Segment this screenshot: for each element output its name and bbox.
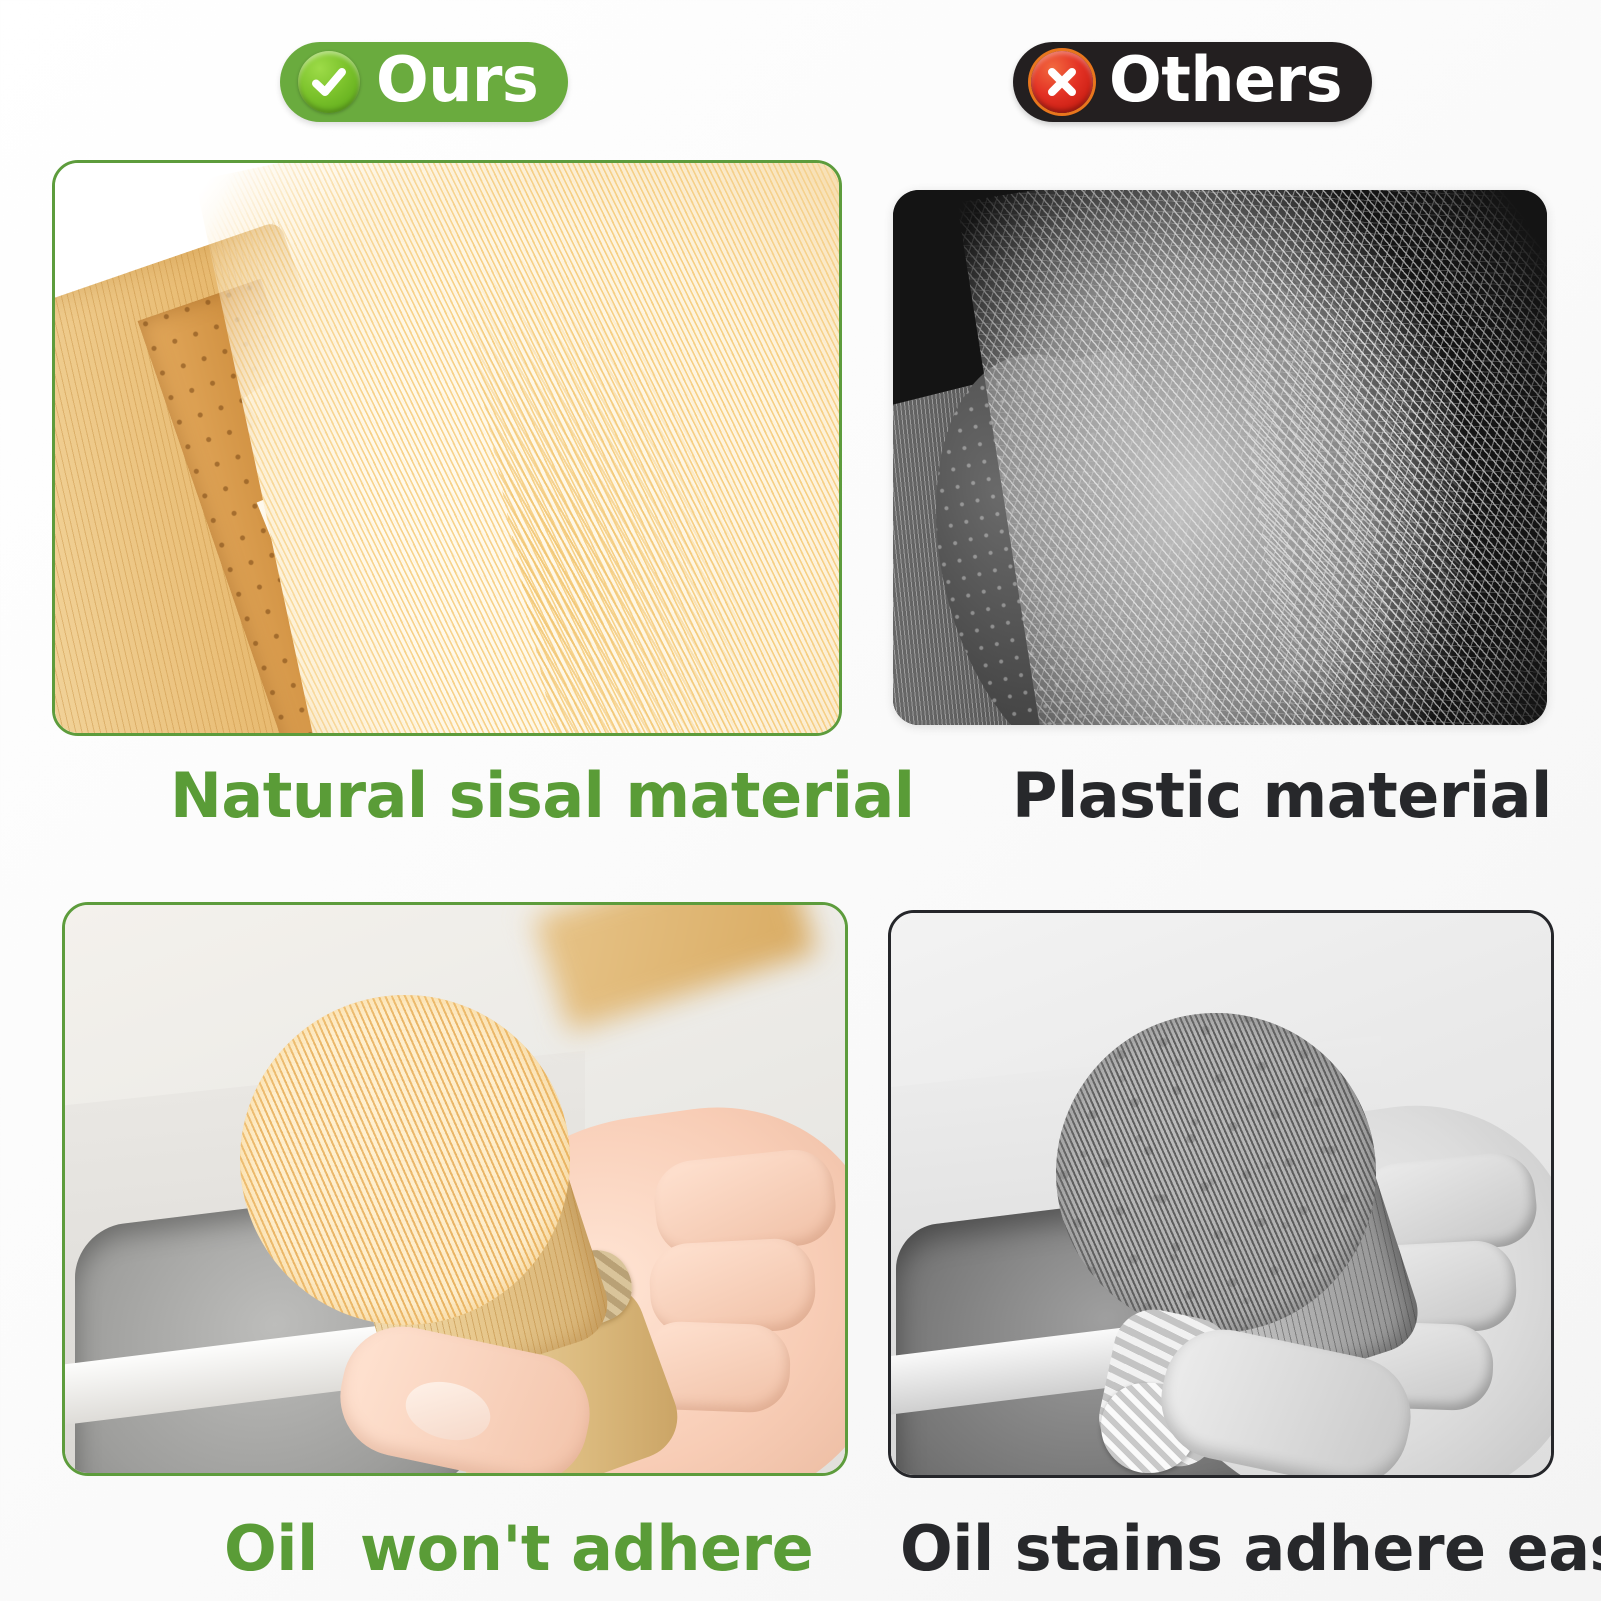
image-hand-holding-clean-bamboo-brush [65,905,845,1473]
panel-oil-wont-adhere [62,902,848,1476]
badge-others: Others [1013,42,1372,122]
panel-natural-sisal-material [52,160,842,736]
panel-oil-stains-adhere-easily [888,910,1554,1478]
caption-oil-wont-adhere: Oil won't adhere [224,1518,813,1580]
badge-ours-label: Ours [376,49,538,111]
badge-others-label: Others [1109,49,1342,111]
image-plastic-brush-closeup [893,190,1547,725]
panel-plastic-material [893,190,1547,725]
badge-ours: Ours [280,42,568,122]
comparison-infographic: Ours Others [0,0,1601,1601]
caption-plastic-material: Plastic material [1012,765,1552,827]
image-hand-holding-dirty-plastic-brush [891,913,1551,1475]
cross-circle-icon [1031,51,1093,113]
check-circle-icon [298,51,360,113]
caption-oil-stains-adhere-easily: Oil stains adhere easily [900,1518,1601,1580]
caption-natural-sisal-material: Natural sisal material [170,765,915,827]
image-bamboo-sisal-brush-closeup [55,163,839,733]
